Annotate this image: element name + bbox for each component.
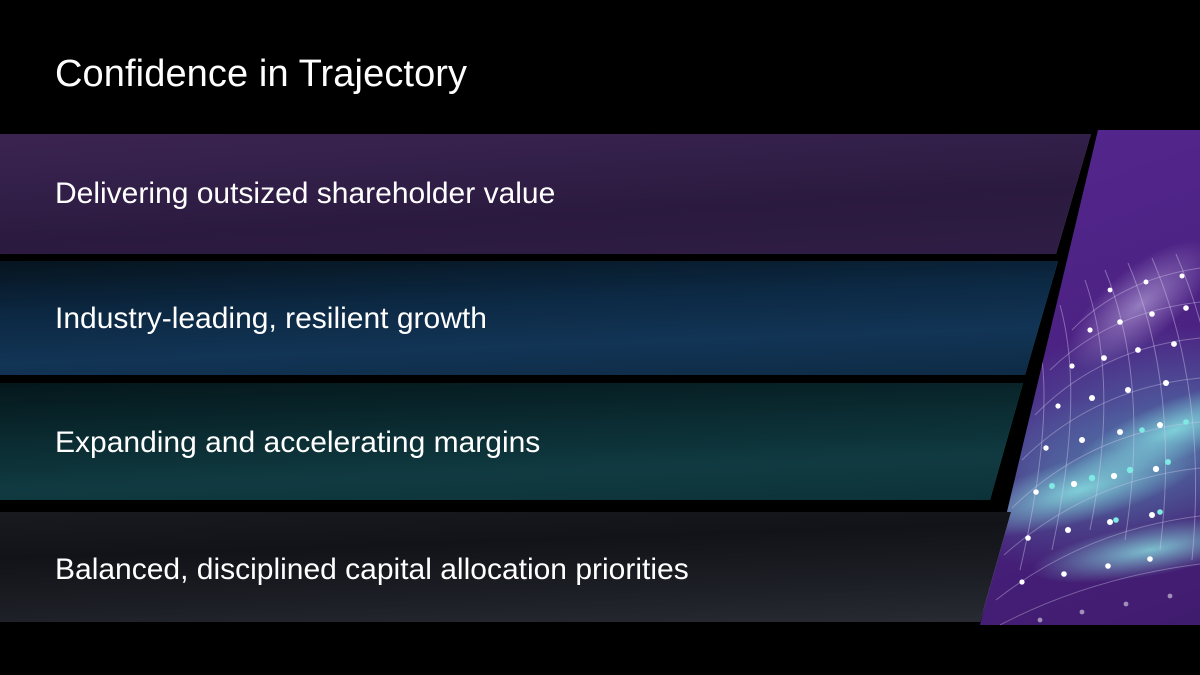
slide-canvas: Confidence in Trajectory [0,0,1200,675]
bullet-band-balanced-disciplined-capital-allocation-priorities[interactable]: Balanced, disciplined capital allocation… [0,512,1040,622]
band-1-label: Delivering outsized shareholder value [55,176,555,212]
bullet-band-delivering-outsized-shareholder-value[interactable]: Delivering outsized shareholder value [0,134,1100,254]
bullet-band-expanding-and-accelerating-margins[interactable]: Expanding and accelerating margins [0,383,1050,500]
bullet-band-industry-leading-resilient-growth[interactable]: Industry-leading, resilient growth [0,261,1080,375]
title-bar: Confidence in Trajectory [0,0,1200,132]
footer-bar: synopsys® © 2024 Synopsys, Inc. [0,625,1200,675]
page-title: Confidence in Trajectory [55,50,467,98]
band-4-label: Balanced, disciplined capital allocation… [55,552,689,588]
band-3-label: Expanding and accelerating margins [55,425,540,461]
band-2-label: Industry-leading, resilient growth [55,301,487,337]
